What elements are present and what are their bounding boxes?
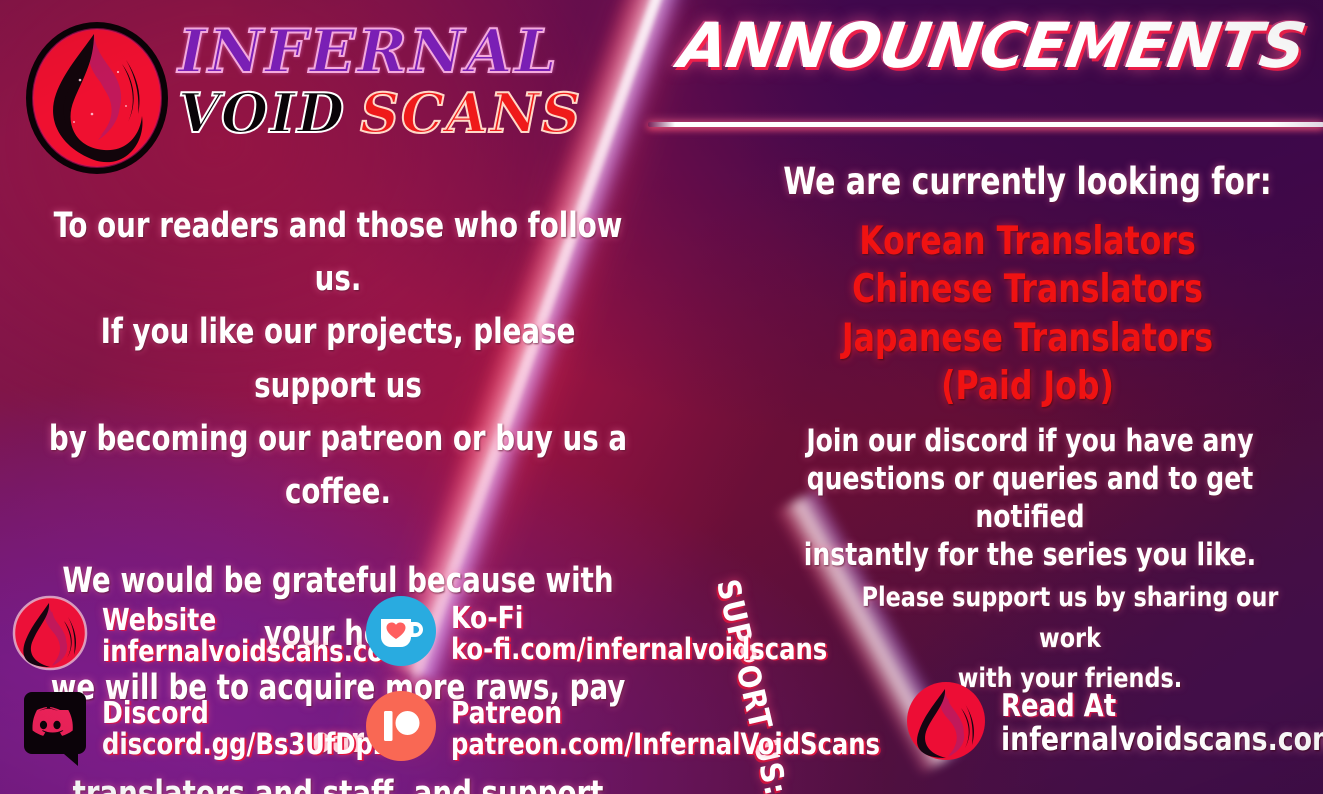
link-text-read-at: Read At infernalvoidscans.com (1001, 690, 1323, 756)
link-url: infernalvoidscans.com (1001, 723, 1323, 757)
link-url: patreon.com/InfernalVoidScans (451, 729, 880, 759)
link-title: Read At (1001, 690, 1323, 723)
share-copy-line: Please support us by sharing our work (840, 578, 1300, 659)
infernal-flame-logo-icon (22, 18, 172, 178)
discord-icon (12, 686, 88, 771)
role-item: (Paid Job) (769, 363, 1287, 411)
link-text-patreon: Patreon patreon.com/InfernalVoidScans (451, 698, 880, 760)
recruiting-heading: We are currently looking for: (769, 160, 1287, 204)
link-row-read-at[interactable]: Read At infernalvoidscans.com (905, 680, 1323, 767)
infernal-flame-logo-icon (12, 595, 88, 676)
kofi-cup-icon (365, 595, 437, 672)
link-text-website: Website infernalvoidscans.com (102, 605, 409, 667)
page-title: ANNOUNCEMENTS (667, 12, 1318, 80)
link-url: ko-fi.com/infernalvoidscans (451, 634, 827, 664)
brand-word-void: VOID (178, 81, 346, 145)
discord-invite-copy: Join our discord if you have any questio… (774, 422, 1287, 575)
link-row-kofi[interactable]: Ko-Fi ko-fi.com/infernalvoidscans (365, 595, 856, 672)
brand-wordmark: INFERNAL VOIDSCANS (178, 22, 608, 140)
link-title: Website (102, 605, 409, 637)
link-text-kofi: Ko-Fi ko-fi.com/infernalvoidscans (451, 603, 827, 665)
title-divider-rule (648, 122, 1323, 127)
discord-copy-line: questions or queries and to get notified (774, 460, 1287, 536)
brand-word-scans: SCANS (360, 81, 582, 145)
discord-copy-line: instantly for the series you like. (774, 536, 1287, 574)
brand-line-infernal: INFERNAL (178, 22, 608, 82)
left-copy-line: by becoming our patreon or buy us a coff… (48, 413, 629, 519)
link-url: infernalvoidscans.com (102, 636, 409, 666)
recruiting-roles-list: Korean Translators Chinese Translators J… (769, 218, 1287, 411)
link-row-patreon[interactable]: Patreon patreon.com/InfernalVoidScans (365, 690, 912, 767)
infernal-flame-logo-icon (905, 680, 987, 767)
role-item: Chinese Translators (769, 266, 1287, 314)
left-copy-line: To our readers and those who follow us. (48, 200, 629, 306)
patreon-icon (365, 690, 437, 767)
left-copy-line: If you like our projects, please support… (48, 306, 629, 412)
discord-copy-line: Join our discord if you have any (774, 422, 1287, 460)
copy-spacer (48, 519, 629, 555)
brand-line-void-scans: VOIDSCANS (178, 86, 608, 140)
role-item: Japanese Translators (769, 315, 1287, 363)
link-title: Patreon (451, 698, 880, 730)
left-copy-line: translators and staff, and support our w… (48, 768, 629, 794)
link-title: Ko-Fi (451, 603, 827, 635)
announcement-banner: INFERNAL VOIDSCANS ANNOUNCEMENTS To our … (0, 0, 1323, 794)
role-item: Korean Translators (769, 218, 1287, 266)
